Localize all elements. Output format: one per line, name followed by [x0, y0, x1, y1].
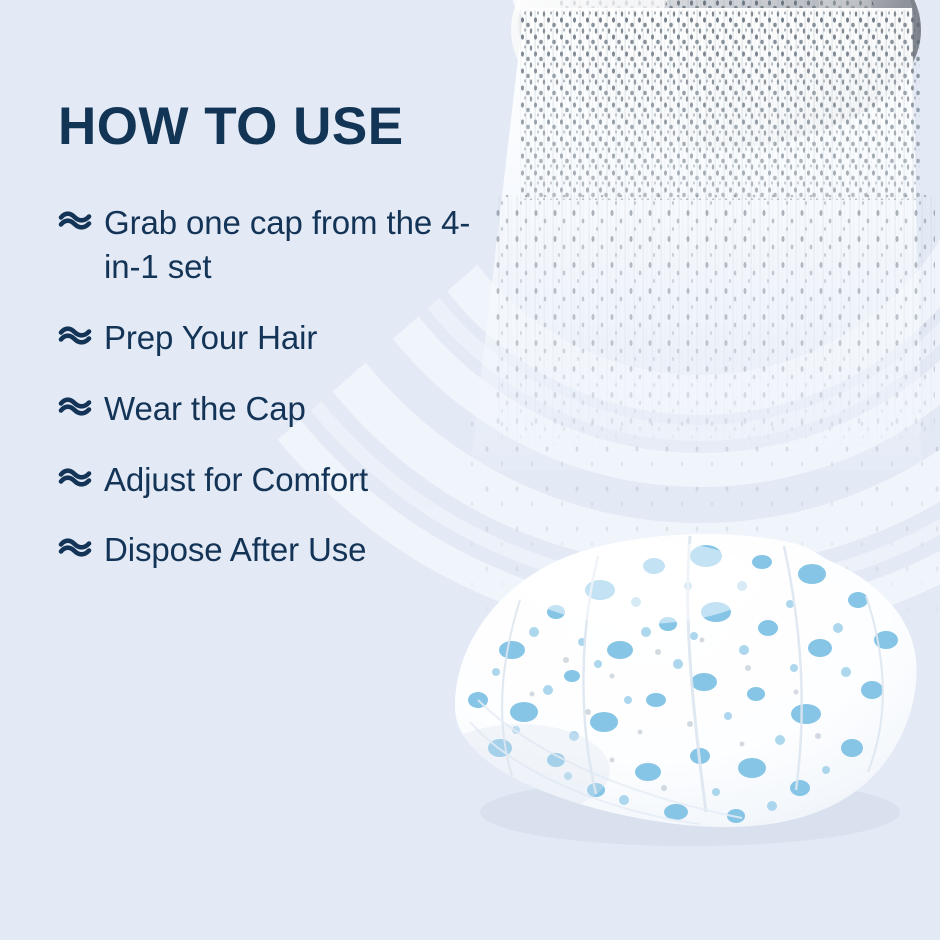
double-wave-icon: [58, 201, 104, 230]
rain-shower-head: [511, 0, 921, 148]
list-item: Dispose After Use: [58, 528, 488, 572]
double-wave-icon: [58, 528, 104, 557]
list-item-label: Grab one cap from the 4-in-1 set: [104, 201, 488, 289]
list-item-label: Wear the Cap: [104, 387, 488, 431]
water-spray: [470, 8, 940, 630]
list-item: Adjust for Comfort: [58, 458, 488, 502]
how-to-use-card: HOW TO USE Grab one cap from the 4-in-1 …: [0, 0, 940, 940]
list-item-label: Adjust for Comfort: [104, 458, 488, 502]
text-column: HOW TO USE Grab one cap from the 4-in-1 …: [58, 100, 488, 572]
double-wave-icon: [58, 458, 104, 487]
polka-dot-shower-cap: [430, 534, 917, 846]
list-item-label: Prep Your Hair: [104, 316, 488, 360]
double-wave-icon: [58, 387, 104, 416]
steps-list: Grab one cap from the 4-in-1 set Prep Yo…: [58, 201, 488, 572]
page-title: HOW TO USE: [58, 100, 488, 153]
list-item: Wear the Cap: [58, 387, 488, 431]
double-wave-icon: [58, 316, 104, 345]
list-item-label: Dispose After Use: [104, 528, 488, 572]
list-item: Prep Your Hair: [58, 316, 488, 360]
list-item: Grab one cap from the 4-in-1 set: [58, 201, 488, 289]
